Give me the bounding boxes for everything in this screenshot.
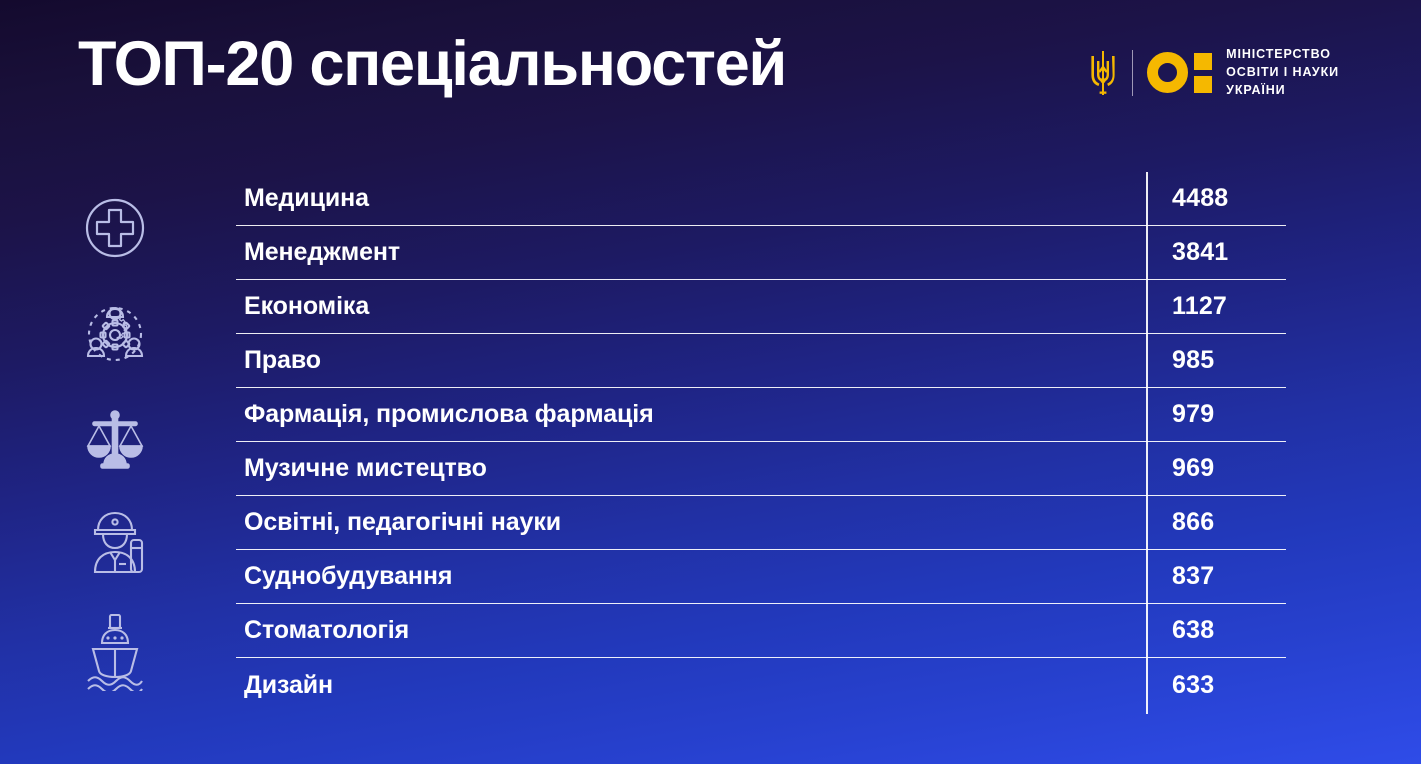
specialty-count: 979 — [1146, 400, 1286, 429]
specialty-count: 638 — [1146, 616, 1286, 645]
specialty-name: Фармація, промислова фармація — [236, 400, 1146, 429]
specialty-count: 3841 — [1146, 238, 1286, 267]
table-row: Музичне мистецтво 969 — [236, 442, 1286, 496]
mon-o-colon-mark-icon — [1147, 52, 1212, 93]
ministry-line-3: УКРАЇНИ — [1226, 83, 1285, 97]
specialty-name: Суднобудування — [236, 562, 1146, 591]
specialty-count: 633 — [1146, 671, 1286, 700]
ministry-logo: МІНІСТЕРСТВО ОСВІТИ І НАУКИ УКРАЇНИ — [1090, 46, 1339, 99]
table-row: Право 985 — [236, 334, 1286, 388]
category-icon-rail — [70, 185, 160, 691]
specialty-name: Економіка — [236, 292, 1146, 321]
ship-waves-icon — [79, 605, 151, 691]
ministry-line-1: МІНІСТЕРСТВО — [1226, 47, 1331, 61]
page-title: ТОП-20 спеціальностей — [78, 33, 786, 96]
specialty-count: 4488 — [1146, 184, 1286, 213]
table-row: Дизайн 633 — [236, 658, 1286, 712]
table-row: Медицина 4488 — [236, 172, 1286, 226]
specialty-name: Медицина — [236, 184, 1146, 213]
mon-colon-blocks-icon — [1194, 53, 1212, 93]
ministry-line-2: ОСВІТИ І НАУКИ — [1226, 65, 1339, 79]
specialty-name: Музичне мистецтво — [236, 454, 1146, 483]
specialty-count: 1127 — [1146, 292, 1286, 321]
ministry-logo-text: МІНІСТЕРСТВО ОСВІТИ І НАУКИ УКРАЇНИ — [1226, 46, 1339, 99]
table-row: Суднобудування 837 — [236, 550, 1286, 604]
table-row: Стоматологія 638 — [236, 604, 1286, 658]
engineer-hardhat-icon — [79, 500, 151, 586]
table-row: Освітні, педагогічні науки 866 — [236, 496, 1286, 550]
specialty-name: Стоматологія — [236, 616, 1146, 645]
table-row: Фармація, промислова фармація 979 — [236, 388, 1286, 442]
table-row: Економіка 1127 — [236, 280, 1286, 334]
specialties-table: Медицина 4488 Менеджмент 3841 Економіка … — [236, 172, 1286, 712]
specialty-name: Освітні, педагогічні науки — [236, 508, 1146, 537]
specialty-count: 866 — [1146, 508, 1286, 537]
medical-cross-circle-icon — [79, 185, 151, 271]
specialty-count: 969 — [1146, 454, 1286, 483]
specialty-name: Право — [236, 346, 1146, 375]
specialty-name: Дизайн — [236, 671, 1146, 700]
logo-divider — [1132, 50, 1133, 96]
mon-o-ring-icon — [1147, 52, 1188, 93]
header: ТОП-20 спеціальностей — [0, 0, 1421, 150]
gear-people-management-icon — [79, 290, 151, 376]
specialty-name: Менеджмент — [236, 238, 1146, 267]
specialty-count: 837 — [1146, 562, 1286, 591]
specialty-count: 985 — [1146, 346, 1286, 375]
table-row: Менеджмент 3841 — [236, 226, 1286, 280]
scales-of-justice-icon — [79, 395, 151, 481]
ukraine-tryzub-icon — [1090, 47, 1116, 99]
